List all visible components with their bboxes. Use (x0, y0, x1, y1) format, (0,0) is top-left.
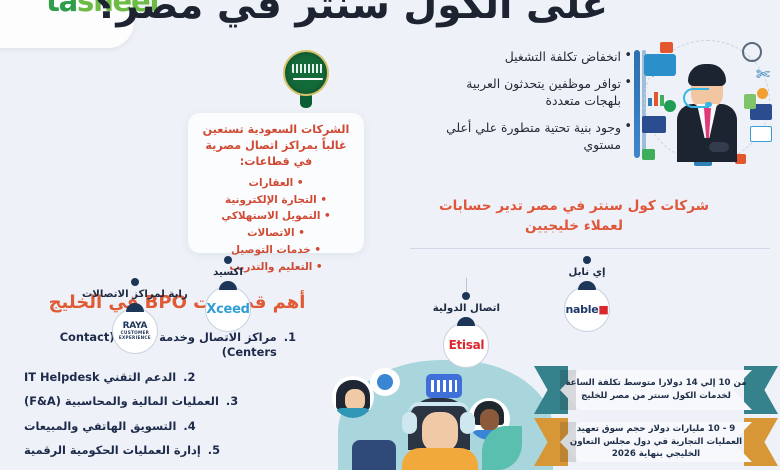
headphones-icon (460, 412, 475, 434)
page-title: على الكول سنتر في مصر؟ (168, 0, 608, 29)
list-item: 3. العمليات المالية والمحاسبية (F&A) (24, 394, 296, 409)
company-item-raya: رابة لمراكز الاتصالات RAYA CUSTOMER EXPE… (82, 278, 188, 354)
list-item-number: 2. (183, 370, 195, 385)
list-item: وجود بنية تحتية متطورة علي أعلي مستوي (432, 119, 632, 154)
chat-bubble-icon (370, 368, 400, 396)
chat-bubble-icon (644, 54, 676, 76)
tools-icon: ✄ (752, 64, 774, 86)
list-icon (750, 126, 772, 142)
list-item: التجارة الإلكترونية (200, 192, 352, 209)
stat-banner-text: 9 - 10 مليارات دولار حجم سوق تعهيد العمل… (534, 423, 778, 462)
company-item-etisal: اتصال الدولية Etisal (433, 278, 500, 368)
stat-banner-hourly-cost: من 10 إلي 14 دولارا متوسط تكلفة الساعة ل… (534, 366, 778, 414)
agent-figure (675, 58, 739, 162)
list-item: الاتصالات (200, 225, 352, 242)
gear-icon (757, 88, 768, 99)
benefits-divider-bar (634, 50, 640, 158)
company-name: إي نابل (564, 267, 610, 278)
list-item-label: العمليات المالية والمحاسبية (F&A) (24, 394, 219, 409)
document-icon (744, 94, 756, 109)
sectors-card-title: الشركات السعودية تستعين غالباً بمراكز ات… (200, 122, 352, 171)
mail-icon (642, 116, 666, 133)
nable-logo: ■nable (564, 286, 610, 332)
square-icon (660, 42, 673, 53)
stat-banner-text: من 10 إلي 14 دولارا متوسط تكلفة الساعة ل… (534, 377, 778, 403)
company-name: رابة لمراكز الاتصالات (82, 289, 188, 300)
customer-service-team-illustration (330, 350, 565, 470)
list-item-number: 4. (183, 419, 195, 434)
list-item-label: التسويق الهاتفي والمبيعات (24, 419, 176, 434)
avatar (332, 376, 374, 418)
square-icon (642, 149, 655, 160)
list-item: العقارات (200, 175, 352, 192)
list-item: التمويل الاستهلاكي (200, 208, 352, 225)
list-item-label: الدعم التقني IT Helpdesk (24, 370, 176, 385)
company-name: اكسيد (205, 267, 251, 278)
company-name: اتصال الدولية (433, 303, 500, 314)
headphones-icon (408, 402, 470, 414)
list-item-label: إدارة العمليات الحكومية الرقمية (24, 443, 201, 458)
saudi-flag-pin (283, 50, 329, 108)
company-item-xceed: اكسيد Xceed (205, 256, 251, 332)
list-item: 2. الدعم التقني IT Helpdesk (24, 370, 296, 385)
list-item: 4. التسويق الهاتفي والمبيعات (24, 419, 296, 434)
saudi-sectors-card: الشركات السعودية تستعين غالباً بمراكز ات… (188, 113, 364, 253)
etisal-logo: Etisal (443, 322, 489, 368)
clock-icon (742, 42, 762, 62)
benefits-list: انخفاض تكلفة التشغيل توافر موظفين يتحدثو… (432, 48, 632, 163)
companies-section-title: شركات كول سنتر في مصر تدير حسابات لعملاء… (434, 197, 714, 236)
call-center-agent-illustration: ✄ (642, 38, 774, 166)
company-item-nable: إي نابل ■nable (564, 256, 610, 332)
infographic-page: tasheel على الكول سنتر في مصر؟ انخفاض تك… (0, 0, 780, 470)
list-item: انخفاض تكلفة التشغيل (432, 48, 632, 66)
list-item: توافر موظفين يتحدثون العربية بلهجات متعد… (432, 75, 632, 110)
chat-bubble-icon (426, 374, 462, 398)
list-item: 5. إدارة العمليات الحكومية الرقمية (24, 443, 296, 458)
brand-logo-part-1: ta (46, 0, 77, 18)
stat-banner-market-size: 9 - 10 مليارات دولار حجم سوق تعهيد العمل… (534, 418, 778, 466)
list-item-number: 5. (208, 443, 220, 458)
list-item-number: 3. (226, 394, 238, 409)
raya-logo: RAYA CUSTOMER EXPERIENCE (112, 308, 158, 354)
list-item-number: 1. (284, 330, 296, 361)
headphones-icon (402, 412, 417, 434)
divider (410, 248, 770, 249)
xceed-logo: Xceed (205, 286, 251, 332)
